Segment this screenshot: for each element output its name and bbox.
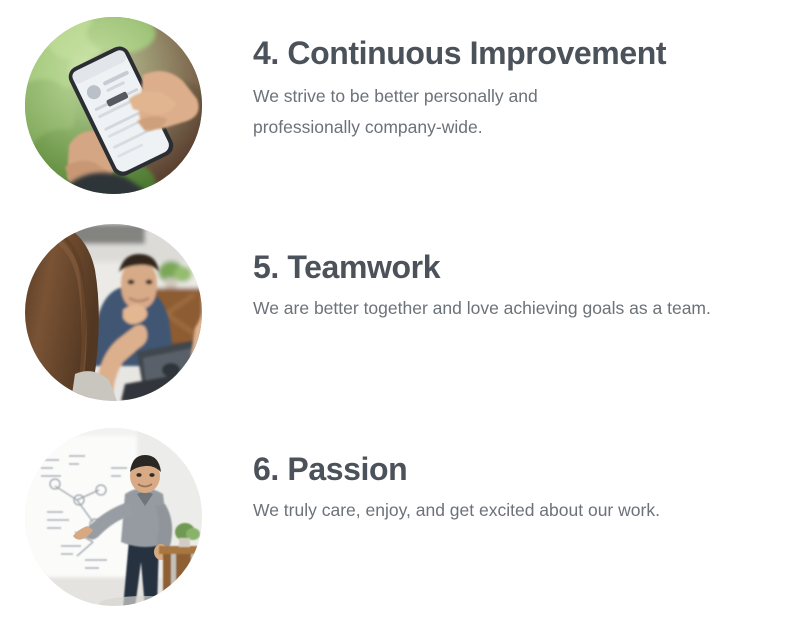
value-body-line: professionally company-wide.	[253, 117, 483, 137]
value-body: We truly care, enjoy, and get excited ab…	[253, 495, 793, 526]
value-item: 5. Teamwork We are better together and l…	[0, 224, 803, 401]
value-heading: 4. Continuous Improvement	[253, 35, 793, 72]
value-text-block: 4. Continuous Improvement We strive to b…	[253, 35, 793, 143]
value-heading: 6. Passion	[253, 451, 793, 488]
values-list: 4. Continuous Improvement We strive to b…	[0, 0, 803, 627]
photo-two-colleagues-talking	[25, 224, 202, 401]
photo-person-using-smartphone	[25, 17, 202, 194]
value-body: We are better together and love achievin…	[253, 293, 793, 324]
value-body: We strive to be better personally and pr…	[253, 81, 793, 143]
value-body-line: We strive to be better personally and	[253, 86, 538, 106]
value-text-block: 5. Teamwork We are better together and l…	[253, 249, 793, 324]
value-item: 6. Passion We truly care, enjoy, and get…	[0, 428, 803, 606]
value-text-block: 6. Passion We truly care, enjoy, and get…	[253, 451, 793, 526]
value-heading: 5. Teamwork	[253, 249, 793, 286]
photo-man-presenting-at-whiteboard	[25, 428, 202, 606]
value-item: 4. Continuous Improvement We strive to b…	[0, 17, 803, 194]
